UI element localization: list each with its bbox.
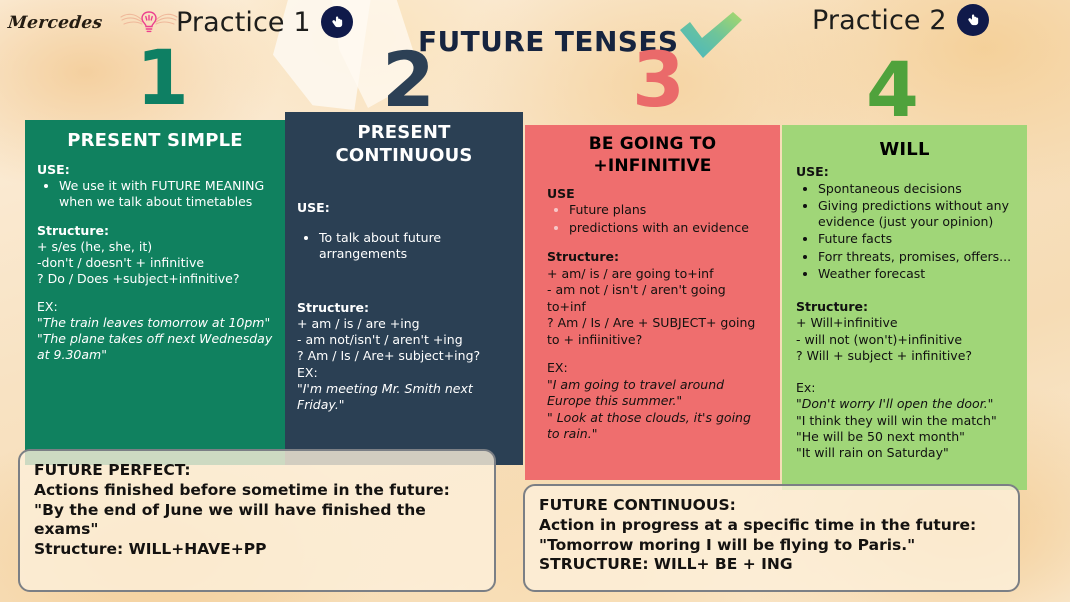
card-body: USE Future plans predictions with an evi… — [539, 186, 766, 443]
callout-example: "By the end of June we will have finishe… — [34, 501, 480, 541]
structure-line: + s/es (he, she, it) — [37, 239, 273, 255]
tense-card-will: WILL USE: Spontaneous decisions Giving p… — [782, 125, 1027, 490]
structure-label: Structure: — [796, 299, 1013, 315]
callout-structure: STRUCTURE: WILL+ BE + ING — [539, 555, 1004, 575]
card-title: WILL — [796, 125, 1013, 164]
practice-2-label: Practice 2 — [812, 5, 947, 36]
example-label: EX: — [547, 360, 766, 377]
list-item: Giving predictions without any evidence … — [818, 198, 1013, 231]
use-label: USE: — [796, 164, 1013, 180]
example-line: "It will rain on Saturday" — [796, 445, 1013, 461]
spacer — [37, 211, 273, 223]
structure-line: ? Will + subject + infinitive? — [796, 348, 1013, 364]
list-item: Forr threats, promises, offers... — [818, 249, 1013, 265]
structure-label: Structure: — [297, 300, 511, 316]
callout-future-continuous: FUTURE CONTINUOUS: Action in progress at… — [523, 484, 1020, 592]
structure-line: + am/ is / are going to+inf — [547, 266, 766, 283]
example-line: "The plane takes off next Wednesday at 9… — [37, 331, 273, 363]
spacer — [37, 287, 273, 299]
use-list: We use it with FUTURE MEANING when we ta… — [59, 178, 273, 210]
example-line: "I am going to travel around Europe this… — [547, 377, 766, 410]
list-item: We use it with FUTURE MEANING when we ta… — [59, 178, 273, 210]
structure-label: Structure: — [37, 223, 273, 239]
tap-hand-icon[interactable] — [957, 4, 989, 36]
callout-description: Actions finished before sometime in the … — [34, 481, 480, 501]
spacer — [796, 364, 1013, 380]
structure-line: ? Am / Is / Are+ subject+ing? — [297, 348, 511, 364]
spacer — [297, 264, 511, 300]
step-number-1: 1 — [136, 40, 189, 116]
list-item: Future plans — [569, 202, 766, 219]
card-title: PRESENT CONTINUOUS — [297, 112, 511, 178]
spacer — [297, 216, 511, 230]
list-item: Weather forecast — [818, 266, 1013, 282]
callout-title: FUTURE PERFECT: — [34, 461, 480, 481]
use-list: Spontaneous decisions Giving predictions… — [818, 181, 1013, 283]
example-label: EX: — [37, 299, 273, 315]
structure-line: + Will+infinitive — [796, 315, 1013, 331]
step-number-4: 4 — [866, 52, 919, 128]
list-item: To talk about future arrangements — [319, 230, 511, 263]
list-item: Future facts — [818, 231, 1013, 247]
callout-future-perfect: FUTURE PERFECT: Actions finished before … — [18, 449, 496, 592]
step-number-3: 3 — [632, 42, 685, 118]
example-label: Ex: — [796, 380, 1013, 396]
example-line: "He will be 50 next month" — [796, 429, 1013, 445]
tense-card-present-continuous: PRESENT CONTINUOUS USE: To talk about fu… — [285, 112, 523, 465]
structure-label: Structure: — [547, 249, 766, 266]
example-line: "Don't worry I'll open the door." — [796, 396, 1013, 412]
practice-2-link[interactable]: Practice 2 — [812, 4, 989, 36]
example-line: " Look at those clouds, it's going to ra… — [547, 410, 766, 443]
structure-line: -don't / doesn't + infinitive — [37, 255, 273, 271]
use-label: USE — [547, 186, 766, 203]
structure-line: - am not / isn't / aren't going to+inf — [547, 282, 766, 315]
callout-structure: Structure: WILL+HAVE+PP — [34, 540, 480, 560]
step-number-2: 2 — [382, 42, 435, 118]
tense-card-present-simple: PRESENT SIMPLE USE: We use it with FUTUR… — [25, 120, 285, 465]
card-title: BE GOING TO +INFINITIVE — [539, 125, 766, 186]
use-label: USE: — [297, 200, 511, 216]
practice-1-label: Practice 1 — [176, 7, 311, 38]
use-label: USE: — [37, 162, 273, 178]
structure-line: ? Am / Is / Are + SUBJECT+ going to + in… — [547, 315, 766, 348]
card-title: PRESENT SIMPLE — [37, 120, 273, 162]
spacer — [547, 348, 766, 360]
check-mark-icon — [676, 10, 746, 62]
use-list: To talk about future arrangements — [319, 230, 511, 263]
structure-line: + am / is / are +ing — [297, 316, 511, 332]
tap-hand-icon[interactable] — [321, 6, 353, 38]
callout-title: FUTURE CONTINUOUS: — [539, 496, 1004, 516]
list-item: predictions with an evidence — [569, 220, 766, 237]
spacer — [796, 283, 1013, 299]
callout-example: "Tomorrow moring I will be flying to Par… — [539, 536, 1004, 556]
structure-line: ? Do / Does +subject+infinitive? — [37, 271, 273, 287]
tense-card-be-going-to: BE GOING TO +INFINITIVE USE Future plans… — [525, 125, 780, 480]
structure-line: - will not (won't)+infinitive — [796, 332, 1013, 348]
example-line: "I think they will win the match" — [796, 413, 1013, 429]
use-list: Future plans predictions with an evidenc… — [569, 202, 766, 236]
structure-line: - am not/isn't / aren't +ing — [297, 332, 511, 348]
example-line: "The train leaves tomorrow at 10pm" — [37, 315, 273, 331]
practice-1-link[interactable]: Practice 1 — [176, 6, 353, 38]
spacer — [297, 178, 511, 200]
example-label: EX: — [297, 365, 511, 381]
spacer — [547, 237, 766, 249]
brand-name: Mercedes — [7, 13, 104, 33]
callout-description: Action in progress at a specific time in… — [539, 516, 1004, 536]
list-item: Spontaneous decisions — [818, 181, 1013, 197]
example-line: "I'm meeting Mr. Smith next Friday." — [297, 381, 511, 414]
